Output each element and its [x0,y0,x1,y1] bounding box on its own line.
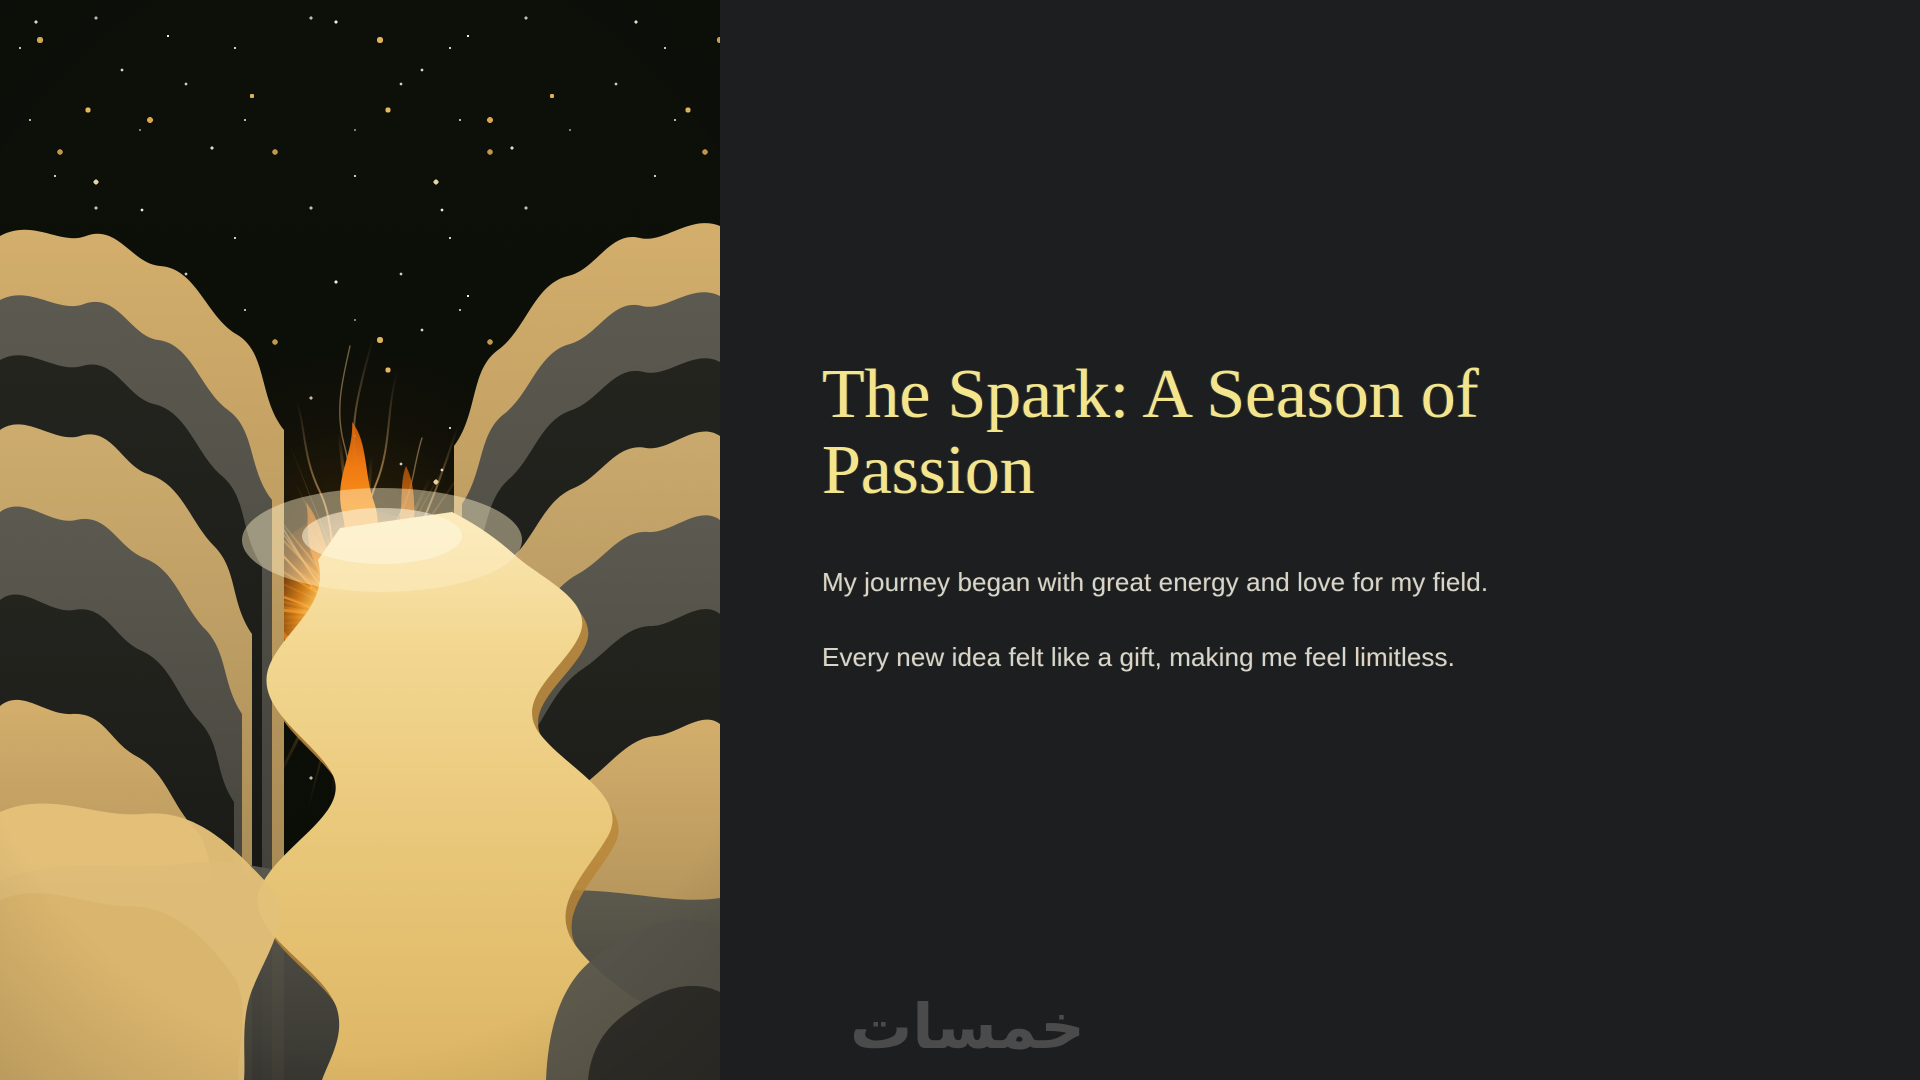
content-panel: The Spark: A Season of Passion My journe… [720,0,1920,1080]
slide-paragraph-1: My journey began with great energy and l… [822,563,1682,602]
illustration-panel [0,0,720,1080]
khamsat-watermark: خمسات [850,996,1085,1058]
winding-golden-path [0,0,720,1080]
slide-paragraph-2: Every new idea felt like a gift, making … [822,638,1682,677]
content-inner: The Spark: A Season of Passion My journe… [822,357,1682,676]
slide-root: The Spark: A Season of Passion My journe… [0,0,1920,1080]
slide-title: The Spark: A Season of Passion [822,357,1682,508]
illustration-stage [0,0,720,1080]
